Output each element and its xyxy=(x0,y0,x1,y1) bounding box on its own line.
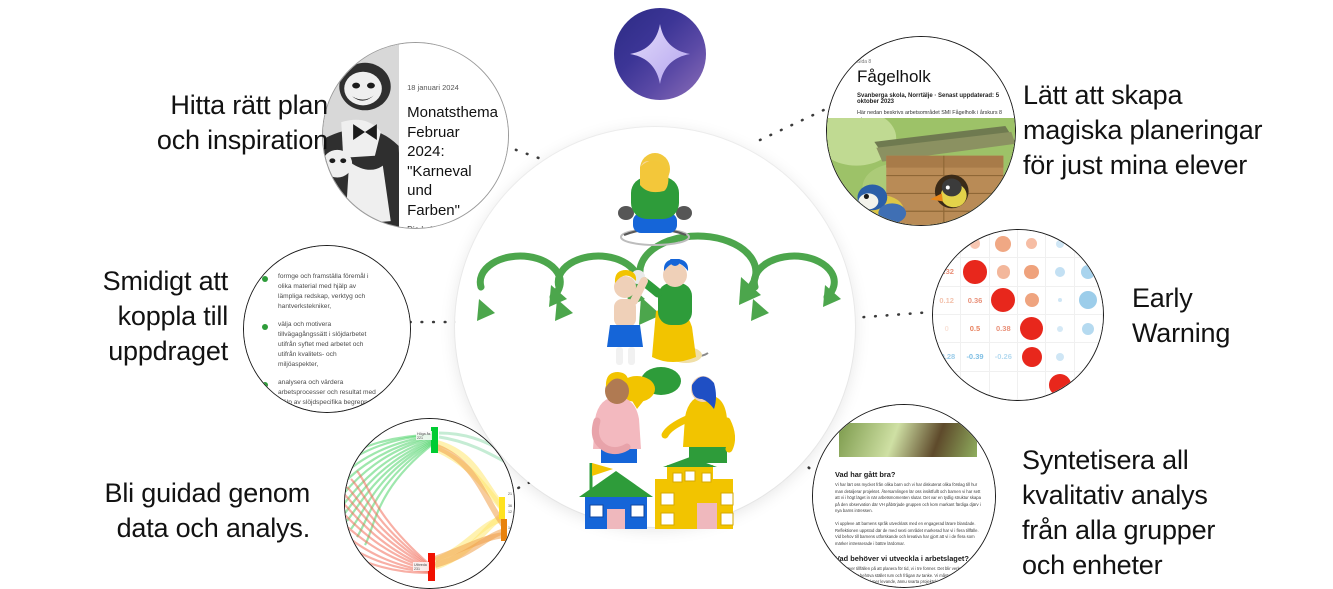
svg-text:18: 18 xyxy=(508,526,512,530)
doc-heading: Vad har gått bra? xyxy=(835,470,981,479)
bird-nestbox-photo xyxy=(827,118,1015,225)
hm-cell xyxy=(1075,287,1103,315)
hm-cell xyxy=(1018,372,1046,400)
list-item: formge och framställa föremål i olika ma… xyxy=(262,272,394,312)
hm-cell xyxy=(1018,287,1046,315)
curriculum-bullet-list: formge och framställa föremål i olika ma… xyxy=(262,272,394,413)
hm-cell: 0.38 xyxy=(990,315,1018,343)
document-photo xyxy=(839,423,977,457)
doc-paragraph: Vi har lärt oss mycket från olika barn o… xyxy=(835,482,981,547)
thumb-fagelholk[interactable]: Sida 8 Fågelholk Svanberga skola, Norrtä… xyxy=(826,36,1016,226)
list-item: välja och motivera tillvägagångssätt i s… xyxy=(262,320,394,370)
hm-cell xyxy=(1046,258,1074,286)
hm-cell xyxy=(990,230,1018,258)
gemini-sparkle-logo xyxy=(614,8,706,100)
hm-cell xyxy=(1075,372,1103,400)
two-people-talking-illustration xyxy=(455,363,855,467)
hm-cell xyxy=(1075,315,1103,343)
carnival-engraving-image xyxy=(323,43,399,228)
hm-cell: -0.28 xyxy=(933,343,961,371)
fagelholk-heading: Fågelholk xyxy=(857,67,1009,87)
svg-text:231: 231 xyxy=(414,567,420,571)
caption-hitta-ratt-plan: Hitta rätt plan och inspiration xyxy=(108,88,328,158)
hm-cell xyxy=(961,230,989,258)
teacher-child-highfive-illustration xyxy=(455,259,855,371)
hm-cell xyxy=(1046,372,1074,400)
caption-syntetisera: Syntetisera all kvalitativ analys från a… xyxy=(1022,443,1322,583)
hm-cell: 0 xyxy=(933,315,961,343)
caption-bli-guidad: Bli guidad genom data och analys. xyxy=(60,476,310,546)
article-heading: Monatsthema Februar 2024: "Karneval und … xyxy=(407,103,498,220)
hm-cell xyxy=(990,287,1018,315)
hm-cell xyxy=(961,258,989,286)
page-kicker: Sida 8 xyxy=(857,59,1009,65)
hm-cell xyxy=(961,372,989,400)
hm-cell xyxy=(1018,230,1046,258)
connector-heatmap xyxy=(852,312,932,318)
hm-cell xyxy=(933,372,961,400)
person-meditating-illustration xyxy=(455,151,855,247)
hm-cell xyxy=(1046,230,1074,258)
central-cycle-circle xyxy=(455,127,855,527)
caption-early-warning: Early Warning xyxy=(1132,281,1322,351)
svg-text:21: 21 xyxy=(508,492,512,496)
article-date: 18 januari 2024 xyxy=(407,83,498,92)
thumb-monatsthema[interactable]: 18 januari 2024 Monatsthema Februar 2024… xyxy=(322,42,509,229)
sankey-node-yellow xyxy=(499,497,505,519)
thumb-curriculum-bullets[interactable]: formge och framställa föremål i olika ma… xyxy=(243,245,411,413)
caption-latt-att-skapa: Lätt att skapa magiska planeringar för j… xyxy=(1023,78,1323,183)
hm-cell xyxy=(933,230,961,258)
hm-cell: 0.36 xyxy=(961,287,989,315)
four-point-star-icon xyxy=(630,24,690,84)
thumb-sankey-diagram[interactable]: Höga ås221 Utbreda231 2136 1218 xyxy=(344,418,515,589)
hm-cell xyxy=(1046,315,1074,343)
doc-heading: Vad behöver vi utveckla i arbetslaget? xyxy=(835,554,981,563)
svg-text:12: 12 xyxy=(508,510,512,514)
sankey-node-green xyxy=(431,427,438,453)
hm-cell xyxy=(990,258,1018,286)
svg-text:221: 221 xyxy=(417,436,423,440)
thumb-reflection-document[interactable]: Vad har gått bra? Vi har lärt oss mycket… xyxy=(812,404,996,588)
hm-cell xyxy=(1075,258,1103,286)
hm-cell xyxy=(1018,343,1046,371)
svg-text:36: 36 xyxy=(508,504,512,508)
list-item: analysera och värdera arbetsprocesser oc… xyxy=(262,378,394,413)
hm-cell xyxy=(1018,315,1046,343)
thumb-correlation-heatmap[interactable]: 0.32 0.12 0.36 0 0.5 0.38 xyxy=(932,229,1104,401)
hm-cell: 0.12 xyxy=(933,287,961,315)
hm-cell xyxy=(1075,230,1103,258)
hm-cell xyxy=(1018,258,1046,286)
fagelholk-subtitle: Svanberga skola, Norrtälje · Senast uppd… xyxy=(857,93,1009,105)
hm-cell: -0.39 xyxy=(961,343,989,371)
hm-cell: -0.26 xyxy=(990,343,1018,371)
hm-cell: 0.32 xyxy=(933,258,961,286)
doc-paragraph: Vi behöver tillfällen på att planera för… xyxy=(835,566,981,588)
hm-cell xyxy=(1046,287,1074,315)
hm-cell xyxy=(990,372,1018,400)
school-buildings-illustration xyxy=(455,457,855,533)
hm-cell xyxy=(1075,343,1103,371)
caption-smidigt-koppla: Smidigt att koppla till uppdraget xyxy=(28,264,228,369)
hm-cell xyxy=(1046,343,1074,371)
sankey-node-orange xyxy=(501,519,507,541)
sankey-node-red xyxy=(428,553,435,581)
infographic-stage: 18 januari 2024 Monatsthema Februar 2024… xyxy=(0,0,1333,589)
hm-cell: 0.5 xyxy=(961,315,989,343)
